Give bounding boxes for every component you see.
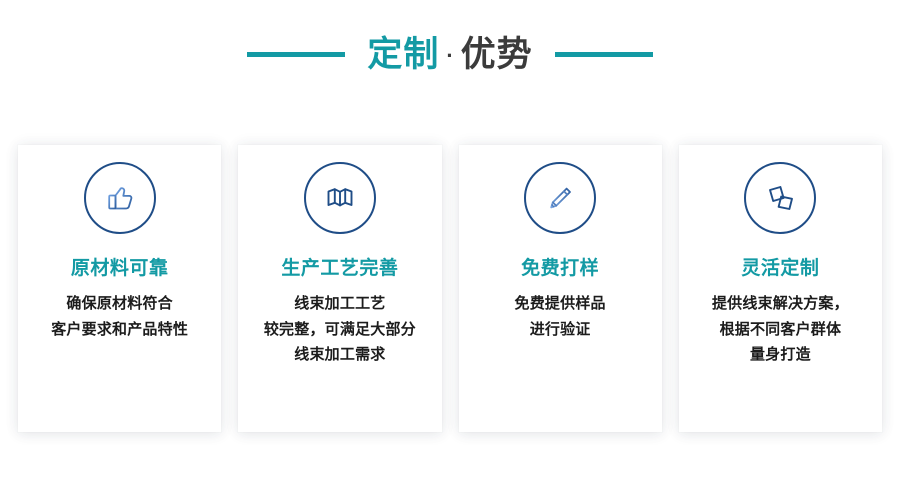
card-description-line: 量身打造 bbox=[712, 342, 849, 368]
card-description-line: 客户要求和产品特性 bbox=[51, 317, 188, 343]
card-description-line: 线束加工需求 bbox=[264, 342, 416, 368]
advantage-card[interactable]: 灵活定制 提供线束解决方案， 根据不同客户群体 量身打造 bbox=[679, 145, 882, 432]
advantage-card[interactable]: 免费打样 免费提供样品 进行验证 bbox=[459, 145, 662, 432]
card-description-line: 线束加工工艺 bbox=[264, 291, 416, 317]
card-description-line: 确保原材料符合 bbox=[51, 291, 188, 317]
header-rule-right bbox=[555, 52, 653, 57]
header-rule-left bbox=[247, 52, 345, 57]
card-description-line: 提供线束解决方案， bbox=[712, 291, 849, 317]
card-title: 原材料可靠 bbox=[71, 258, 169, 281]
card-description: 线束加工工艺 较完整，可满足大部分 线束加工需求 bbox=[254, 291, 426, 368]
card-description-line: 较完整，可满足大部分 bbox=[264, 317, 416, 343]
pencil-icon bbox=[540, 178, 580, 218]
card-description: 确保原材料符合 客户要求和产品特性 bbox=[41, 291, 198, 343]
icon-circle bbox=[84, 162, 156, 234]
card-description-line: 根据不同客户群体 bbox=[712, 317, 849, 343]
card-description-line: 进行验证 bbox=[515, 317, 606, 343]
card-title: 生产工艺完善 bbox=[281, 258, 398, 281]
folded-map-icon bbox=[320, 178, 360, 218]
card-title: 灵活定制 bbox=[741, 258, 819, 281]
advantage-card-list: 原材料可靠 确保原材料符合 客户要求和产品特性 生产工艺完善 线束加工工艺 bbox=[18, 145, 882, 432]
page-title-sub: 优势 bbox=[461, 37, 533, 72]
page-title-main: 定制 bbox=[367, 37, 439, 72]
advantage-card[interactable]: 原材料可靠 确保原材料符合 客户要求和产品特性 bbox=[18, 145, 221, 432]
page-title: 定制 · 优势 bbox=[367, 37, 532, 72]
page-title-separator: · bbox=[446, 45, 453, 67]
card-description-line: 免费提供样品 bbox=[515, 291, 606, 317]
section-header: 定制 · 优势 bbox=[0, 28, 900, 80]
icon-circle bbox=[744, 162, 816, 234]
icon-circle bbox=[524, 162, 596, 234]
advantage-card[interactable]: 生产工艺完善 线束加工工艺 较完整，可满足大部分 线束加工需求 bbox=[238, 145, 441, 432]
overlapping-cards-icon bbox=[760, 178, 800, 218]
card-description: 提供线束解决方案， 根据不同客户群体 量身打造 bbox=[702, 291, 859, 368]
card-title: 免费打样 bbox=[521, 258, 599, 281]
icon-circle bbox=[304, 162, 376, 234]
card-description: 免费提供样品 进行验证 bbox=[505, 291, 616, 343]
thumbs-up-icon bbox=[100, 178, 140, 218]
